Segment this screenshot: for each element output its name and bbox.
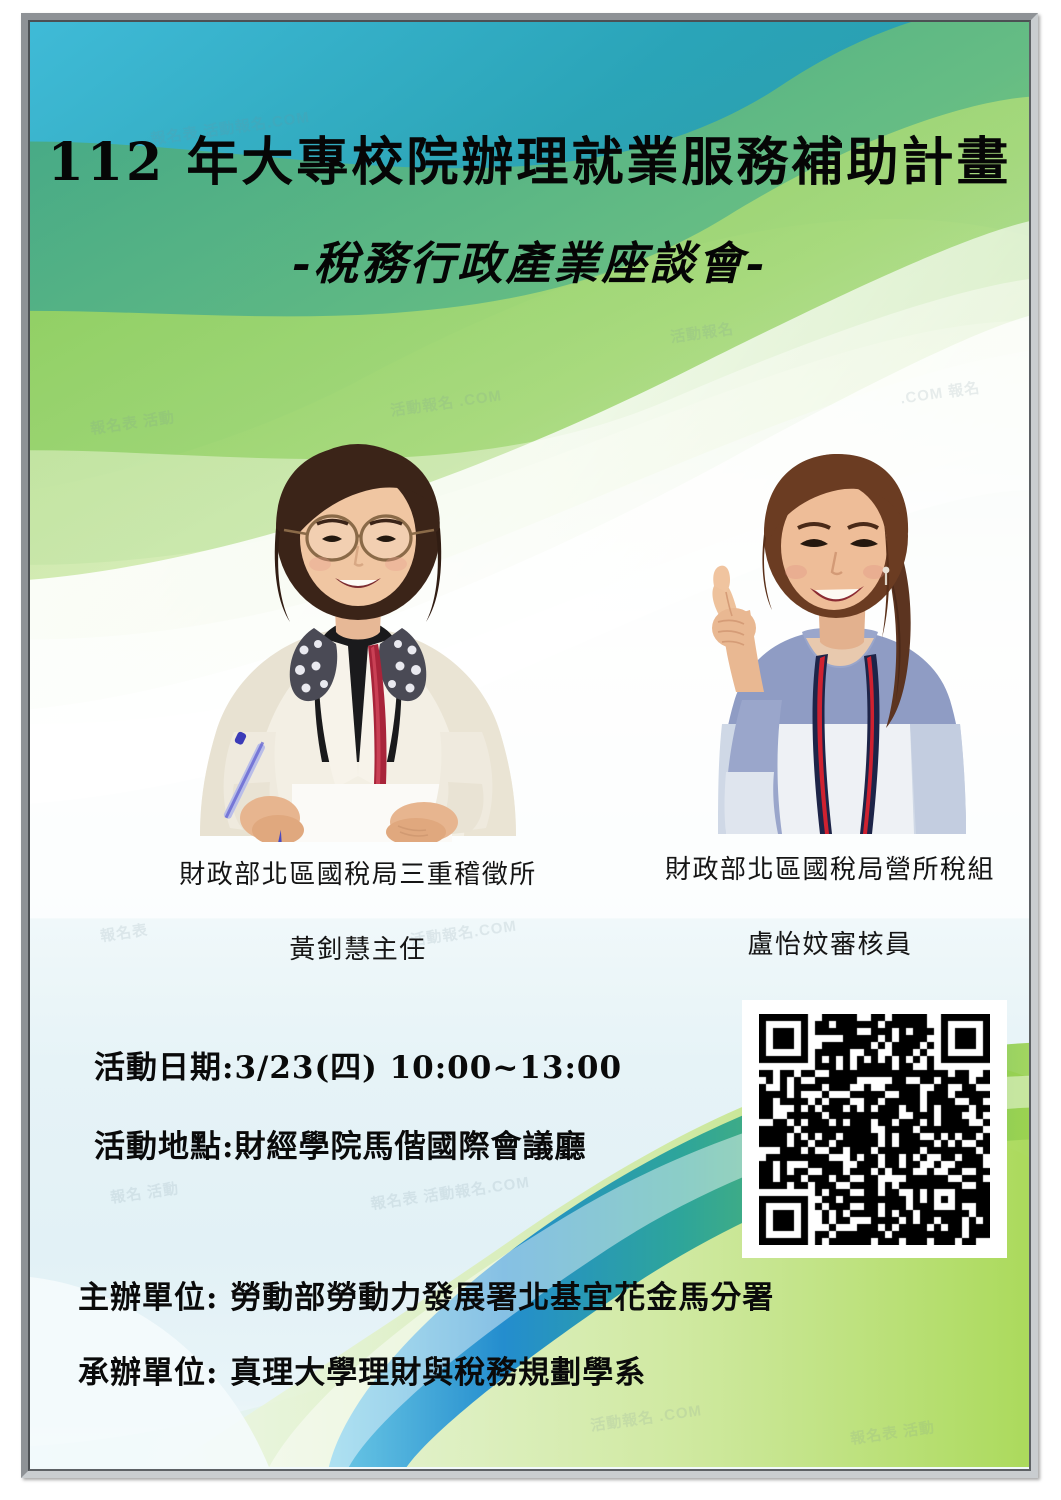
speaker-name: 盧怡妏審核員 — [630, 924, 1030, 961]
page-subtitle: -稅務行政產業座談會- — [30, 227, 1029, 292]
speaker-organization: 財政部北區國稅局營所稅組 — [630, 849, 1030, 886]
poster-frame-inner: 報名表 活動報名.COM 活動報名 .COM 報名表 活動 活動報名 .COM … — [28, 20, 1031, 1471]
page-title: 112 年大專校院辦理就業服務補助計畫 — [30, 130, 1029, 195]
coordinator-organization-line: 承辦單位: 真理大學理財與稅務規劃學系 — [78, 1347, 774, 1392]
event-date-line: 活動日期:3/23(四) 10:00~13:00 — [94, 1042, 622, 1087]
speaker-organization: 財政部北區國稅局三重稽徵所 — [138, 854, 578, 891]
poster-root: 報名表 活動報名.COM 活動報名 .COM 報名表 活動 活動報名 .COM … — [0, 0, 1061, 1500]
qr-code-panel[interactable] — [742, 1000, 1007, 1258]
organizers-block: 主辦單位: 勞動部勞動力發展署北基宜花金馬分署 承辦單位: 真理大學理財與稅務規… — [78, 1272, 774, 1422]
poster-frame-bevel: 報名表 活動報名.COM 活動報名 .COM 報名表 活動 活動報名 .COM … — [21, 13, 1038, 1478]
speakers-section: 財政部北區國稅局三重稽徵所 黃釗慧主任 — [30, 432, 1029, 992]
speaker-card-right: 財政部北區國稅局營所稅組 盧怡妏審核員 — [630, 442, 1030, 961]
speaker-card-left: 財政部北區國稅局三重稽徵所 黃釗慧主任 — [138, 432, 578, 966]
qr-code[interactable] — [759, 1014, 990, 1245]
speaker-photo-right — [670, 442, 990, 837]
poster-title-block: 112 年大專校院辦理就業服務補助計畫 -稅務行政產業座談會- — [30, 130, 1029, 292]
host-organization-line: 主辦單位: 勞動部勞動力發展署北基宜花金馬分署 — [78, 1272, 774, 1317]
event-details-block: 活動日期:3/23(四) 10:00~13:00 活動地點:財經學院馬偕國際會議… — [94, 1042, 622, 1200]
speaker-photo-left — [172, 432, 544, 842]
event-venue-line: 活動地點:財經學院馬偕國際會議廳 — [94, 1121, 622, 1166]
speaker-name: 黃釗慧主任 — [138, 929, 578, 966]
